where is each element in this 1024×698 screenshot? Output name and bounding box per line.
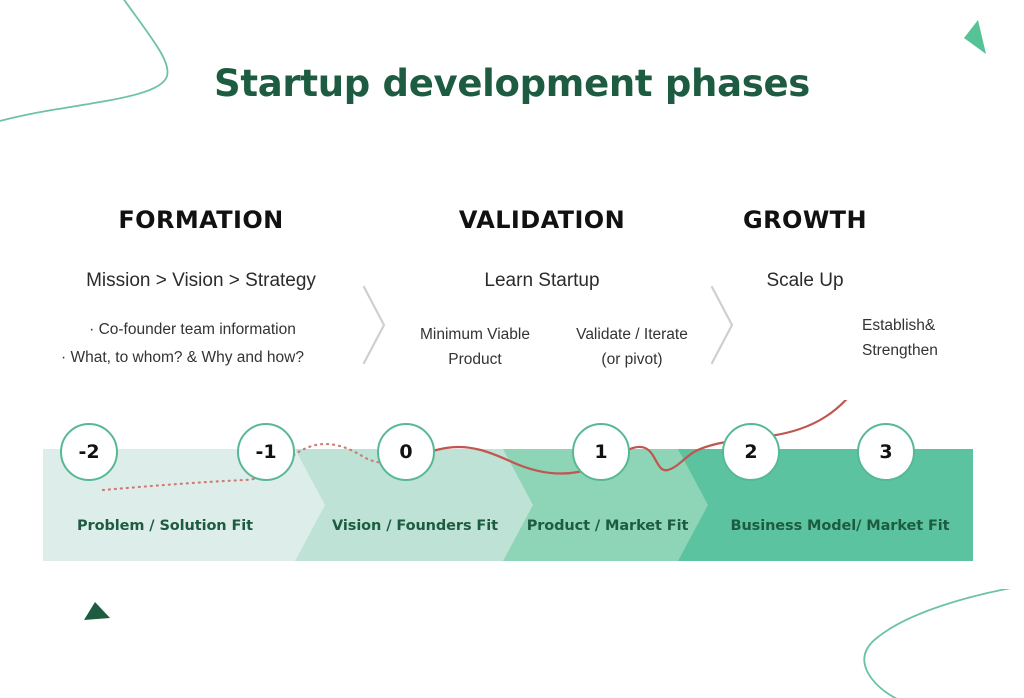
phase-heading-validation: VALIDATION [392, 206, 692, 234]
validation-detail-iterate: Validate / Iterate (or pivot) [552, 322, 712, 372]
formation-bullet-1: · Co-founder team information [20, 317, 365, 342]
timeline-band-business-model-market-fit [678, 449, 973, 561]
chevron-separator-icon-2 [706, 283, 740, 367]
milestone-circle--1[interactable]: -1 [237, 423, 295, 481]
growth-detail-establish: Establish& Strengthen [862, 313, 982, 363]
milestone-circle-0[interactable]: 0 [377, 423, 435, 481]
validation-detail-mvp-line1: Minimum Viable [396, 322, 554, 347]
milestone-circle-1[interactable]: 1 [572, 423, 630, 481]
phase-lead-validation: Learn Startup [392, 270, 692, 292]
validation-detail-iterate-line1: Validate / Iterate [552, 322, 712, 347]
validation-detail-mvp-line2: Product [396, 347, 554, 372]
validation-detail-iterate-line2: (or pivot) [552, 347, 712, 372]
decorative-triangle-bottom-left [82, 600, 116, 626]
milestone-circle-2[interactable]: 2 [722, 423, 780, 481]
phase-heading-formation: FORMATION [36, 206, 366, 234]
growth-detail-establish-line2: Strengthen [862, 338, 982, 363]
milestone-circle-3[interactable]: 3 [857, 423, 915, 481]
validation-detail-mvp: Minimum Viable Product [396, 322, 554, 372]
page-title: Startup development phases [0, 62, 1024, 105]
chevron-separator-icon-1 [358, 283, 392, 367]
growth-detail-establish-line1: Establish& [862, 313, 982, 338]
timeline-band-label-vision-founders-fit: Vision / Founders Fit [310, 518, 520, 534]
timeline-band-label-product-market-fit: Product / Market Fit [515, 518, 700, 534]
phase-heading-growth: GROWTH [700, 206, 910, 234]
decorative-triangle-top-right [960, 18, 994, 58]
timeline-band-label-business-model-market-fit: Business Model/ Market Fit [700, 518, 980, 534]
decorative-curve-bottom-right [778, 589, 1024, 698]
timeline-band-label-problem-solution-fit: Problem / Solution Fit [50, 518, 280, 534]
formation-bullet-2: · What, to whom? & Why and how? [10, 345, 355, 370]
slide-canvas: Startup development phases FORMATION VAL… [0, 0, 1024, 698]
phase-lead-formation: Mission > Vision > Strategy [36, 270, 366, 292]
milestone-circle--2[interactable]: -2 [60, 423, 118, 481]
